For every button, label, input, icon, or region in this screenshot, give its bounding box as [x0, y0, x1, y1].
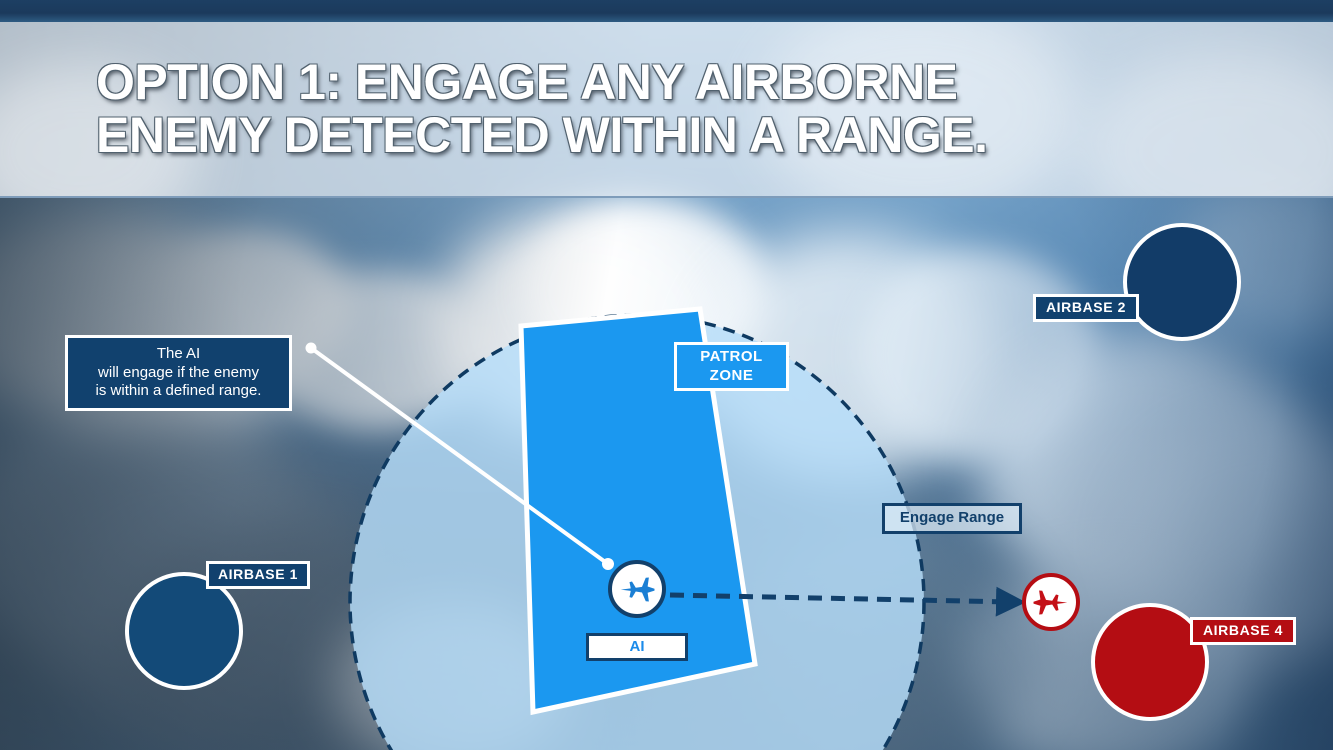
engage-range-label-text: Engage Range	[900, 509, 1004, 528]
callout-leader-end-dot	[602, 558, 614, 570]
callout-text: The AI will engage if the enemy is withi…	[96, 345, 262, 401]
airbase-2-label-text: AIRBASE 2	[1046, 299, 1126, 317]
patrol-zone-label: PATROL ZONE	[674, 342, 789, 391]
airbase-1-circle	[127, 574, 241, 688]
enemy-unit-marker[interactable]	[1022, 573, 1080, 631]
patrol-zone-label-text: PATROL ZONE	[700, 348, 762, 386]
engage-range-label: Engage Range	[882, 503, 1022, 534]
airbase-1-label: AIRBASE 1	[206, 561, 310, 589]
callout-box: The AI will engage if the enemy is withi…	[65, 335, 292, 411]
ai-unit-label: AI	[586, 633, 688, 661]
airbase-2-label: AIRBASE 2	[1033, 294, 1139, 322]
callout-leader-start-dot	[306, 343, 317, 354]
ai-unit-marker[interactable]	[608, 560, 666, 618]
airbase-1-label-text: AIRBASE 1	[218, 566, 298, 584]
title-wrapper: OPTION 1: ENGAGE ANY AIRBORNE ENEMY DETE…	[0, 22, 1333, 196]
airbase-4-label-text: AIRBASE 4	[1203, 622, 1283, 640]
ai-unit-label-text: AI	[630, 638, 645, 657]
fighter-jet-icon	[617, 569, 657, 609]
fighter-jet-icon	[1031, 582, 1071, 622]
diagram-vector-layer	[0, 196, 1333, 750]
diagram-canvas: The AI will engage if the enemy is withi…	[0, 196, 1333, 750]
top-accent-bar	[0, 0, 1333, 22]
airbase-2-circle	[1125, 225, 1239, 339]
page-title: OPTION 1: ENGAGE ANY AIRBORNE ENEMY DETE…	[96, 56, 1333, 163]
airbase-4-label: AIRBASE 4	[1190, 617, 1296, 645]
slide-root: OPTION 1: ENGAGE ANY AIRBORNE ENEMY DETE…	[0, 0, 1333, 750]
